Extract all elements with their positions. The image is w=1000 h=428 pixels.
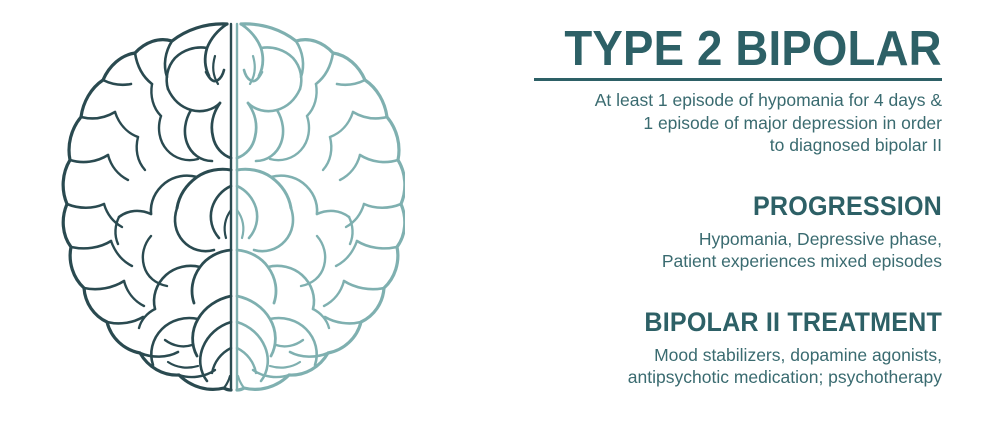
page-title: TYPE 2 BIPOLAR <box>565 24 942 74</box>
title-underline <box>534 78 942 81</box>
brain-left-hemisphere <box>63 24 231 390</box>
section-progression: PROGRESSION Hypomania, Depressive phase,… <box>470 191 942 273</box>
section-body-treatment: Mood stabilizers, dopamine agonists, ant… <box>470 344 942 389</box>
section-heading-treatment: BIPOLAR II TREATMENT <box>503 307 942 338</box>
section-body-progression: Hypomania, Depressive phase, Patient exp… <box>470 228 942 273</box>
header-subtitle: At least 1 episode of hypomania for 4 da… <box>470 89 942 157</box>
section-heading-progression: PROGRESSION <box>503 191 942 222</box>
brain-illustration <box>55 10 405 422</box>
title-block: TYPE 2 BIPOLAR At least 1 episode of hyp… <box>470 0 942 157</box>
brain-right-hemisphere <box>237 24 405 390</box>
text-column: TYPE 2 BIPOLAR At least 1 episode of hyp… <box>470 0 942 428</box>
infographic-root: TYPE 2 BIPOLAR At least 1 episode of hyp… <box>0 0 1000 428</box>
section-treatment: BIPOLAR II TREATMENT Mood stabilizers, d… <box>470 307 942 389</box>
